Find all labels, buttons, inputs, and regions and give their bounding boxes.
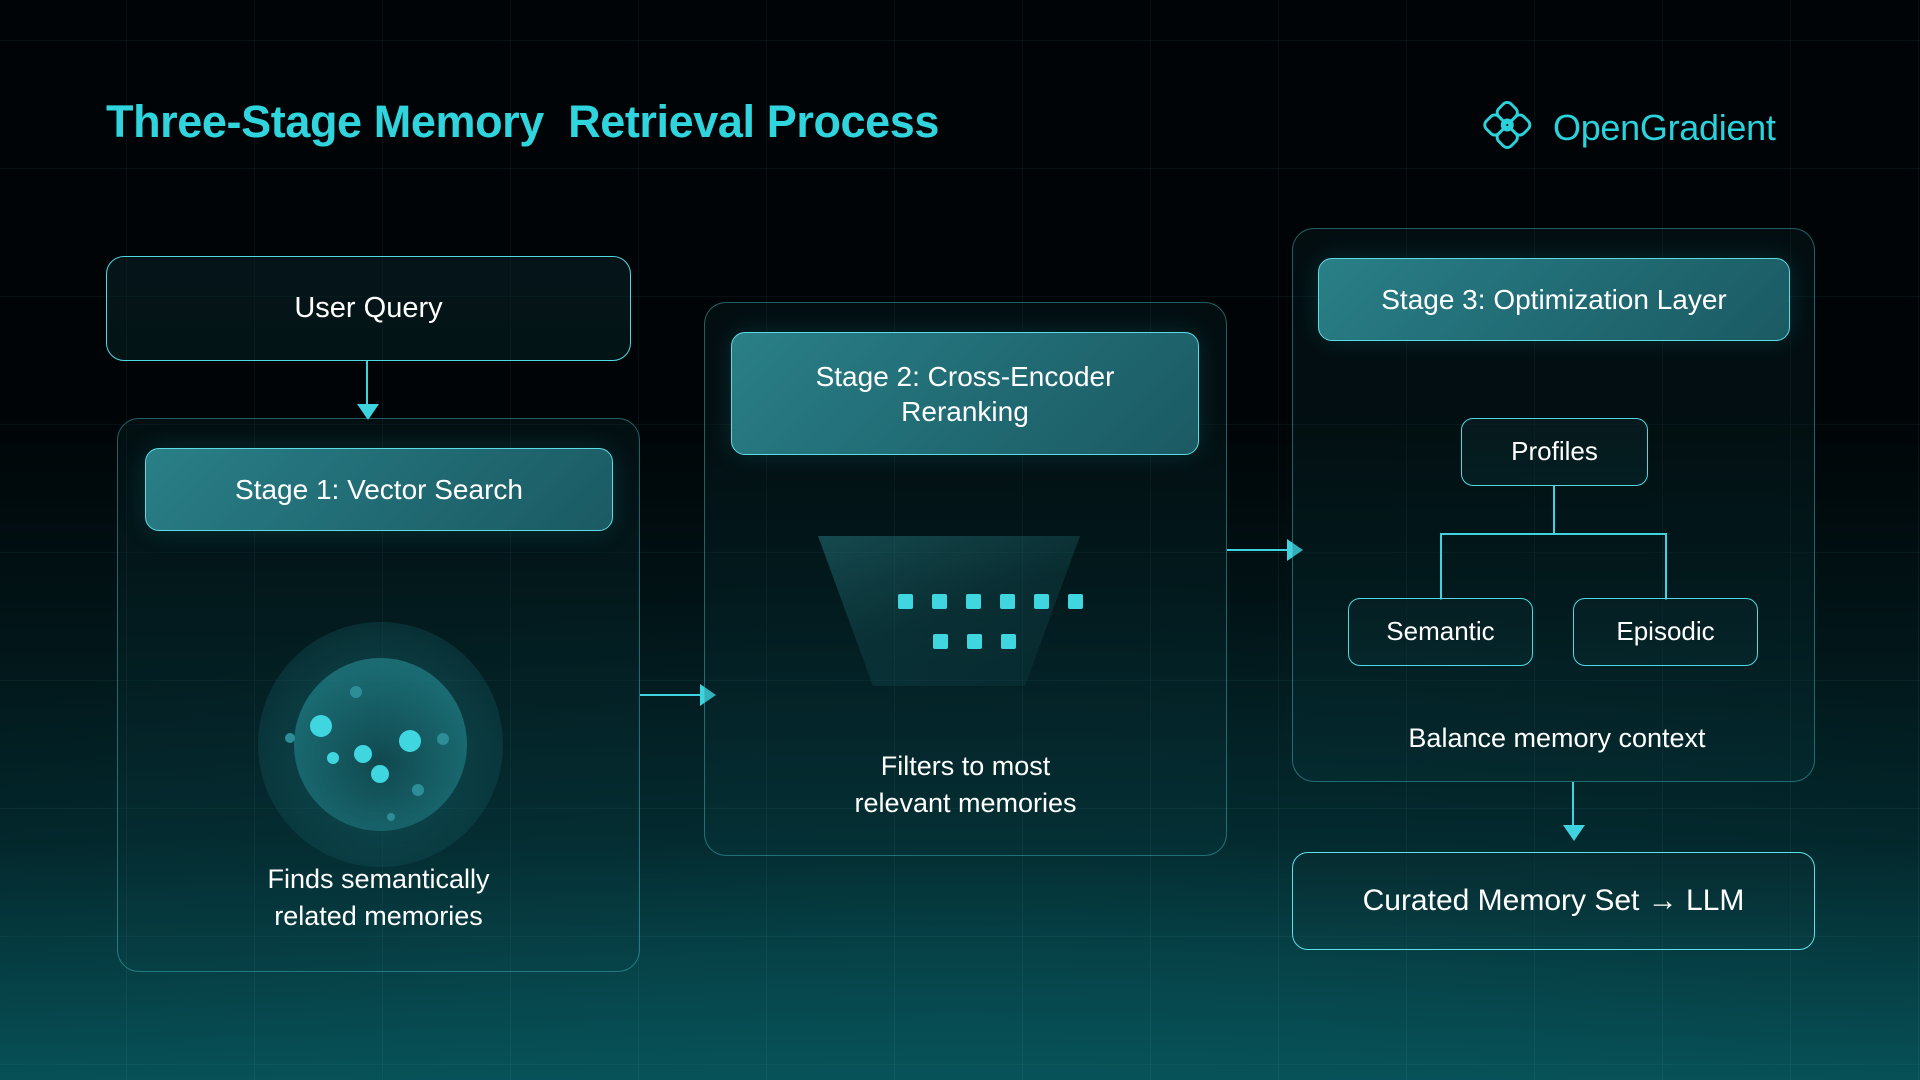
- tree-node-profiles[interactable]: Profiles: [1461, 418, 1648, 486]
- tree-node-semantic[interactable]: Semantic: [1348, 598, 1533, 666]
- stage1-heading[interactable]: Stage 1: Vector Search: [145, 448, 613, 531]
- funnel-square: [898, 594, 913, 609]
- scatter-dot: [399, 730, 421, 752]
- brand-name: OpenGradient: [1553, 107, 1776, 149]
- connector-stage2-to-stage3: [1227, 549, 1289, 551]
- funnel-square: [933, 634, 948, 649]
- funnel-square: [1000, 594, 1015, 609]
- stage2-heading-label: Stage 2: Cross-Encoder Reranking: [816, 359, 1115, 429]
- tree-node-episodic-label: Episodic: [1616, 616, 1714, 648]
- curated-memory-output-label: Curated Memory Set → LLM: [1363, 883, 1745, 920]
- scatter-dot: [437, 733, 449, 745]
- funnel-square: [1001, 634, 1016, 649]
- scatter-dot: [371, 765, 389, 783]
- connector-profiles-bus: [1440, 533, 1667, 535]
- scatter-dot: [327, 752, 339, 764]
- funnel-square: [1068, 594, 1083, 609]
- funnel-filter-icon: [818, 536, 1080, 686]
- connector-stage1-to-stage2: [640, 694, 702, 696]
- tree-node-semantic-label: Semantic: [1386, 616, 1494, 648]
- vector-scatter-cluster-icon: [258, 622, 503, 867]
- scatter-dot: [412, 784, 424, 796]
- connector-stage3-to-output: [1572, 782, 1574, 830]
- tree-node-profiles-label: Profiles: [1511, 436, 1598, 468]
- connector-bus-to-episodic: [1665, 533, 1667, 600]
- stage3-heading-label: Stage 3: Optimization Layer: [1381, 282, 1727, 317]
- scatter-dot: [354, 745, 372, 763]
- curated-memory-output-node[interactable]: Curated Memory Set → LLM: [1292, 852, 1815, 950]
- user-query-node[interactable]: User Query: [106, 256, 631, 361]
- scatter-dot: [310, 715, 332, 737]
- stage2-caption: Filters to most relevant memories: [704, 748, 1227, 821]
- arrow-stage3-to-output-icon: [1563, 825, 1585, 841]
- brand-lockup: OpenGradient: [1478, 96, 1776, 159]
- tree-node-episodic[interactable]: Episodic: [1573, 598, 1758, 666]
- connector-bus-to-semantic: [1440, 533, 1442, 600]
- diagram-canvas: Three-Stage Memory Retrieval Process Ope…: [0, 0, 1920, 1080]
- funnel-shape: [818, 536, 1080, 686]
- stage2-heading[interactable]: Stage 2: Cross-Encoder Reranking: [731, 332, 1199, 455]
- funnel-square: [967, 634, 982, 649]
- stage3-caption: Balance memory context: [1292, 720, 1822, 757]
- stage3-heading[interactable]: Stage 3: Optimization Layer: [1318, 258, 1790, 341]
- stage1-heading-label: Stage 1: Vector Search: [235, 472, 523, 507]
- scatter-dot: [350, 686, 362, 698]
- funnel-square: [1034, 594, 1049, 609]
- funnel-square: [932, 594, 947, 609]
- opengradient-flower-logo-icon: [1478, 96, 1536, 159]
- funnel-square: [966, 594, 981, 609]
- page-title: Three-Stage Memory Retrieval Process: [106, 96, 939, 148]
- header: Three-Stage Memory Retrieval Process Ope…: [0, 0, 1920, 170]
- scatter-dot: [285, 733, 295, 743]
- user-query-label: User Query: [294, 291, 442, 326]
- scatter-dot: [387, 813, 395, 821]
- connector-user-query-to-stage1: [366, 361, 368, 409]
- stage1-caption: Finds semantically related memories: [117, 861, 640, 934]
- connector-profiles-stem: [1553, 486, 1555, 534]
